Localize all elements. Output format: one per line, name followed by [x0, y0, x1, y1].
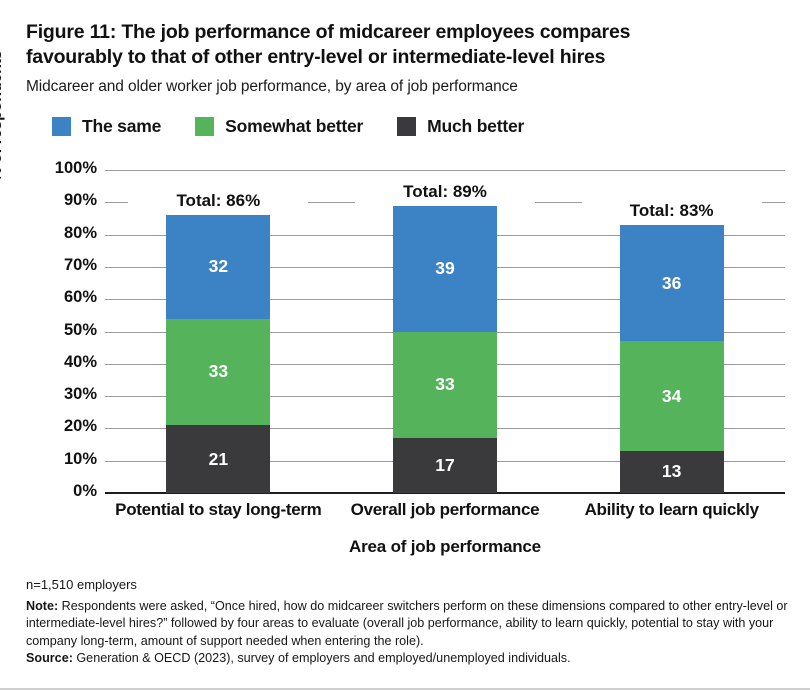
source-label: Source: [26, 651, 73, 665]
legend-item[interactable]: Much better [397, 116, 524, 137]
bar-group[interactable]: 323321Total: 86% [166, 215, 270, 493]
bar-segment-value-label: 36 [662, 273, 681, 294]
y-axis-tick-label: 10% [43, 450, 97, 469]
bar-segment-value-label: 34 [662, 386, 681, 407]
chart-legend: The sameSomewhat betterMuch better [52, 113, 524, 139]
y-axis-tick-label: 40% [43, 353, 97, 372]
bar-segment-value-label: 39 [435, 258, 454, 279]
x-axis-tick-label: Ability to learn quickly [532, 500, 810, 520]
bar-segment[interactable]: 21 [166, 425, 270, 493]
legend-swatch-somewhat-better-icon [195, 117, 214, 136]
source-paragraph: Source: Generation & OECD (2023), survey… [26, 650, 798, 668]
y-axis-tick-label: 90% [43, 191, 97, 210]
bar-segment[interactable]: 17 [393, 438, 497, 493]
y-axis-tick-label: 70% [43, 256, 97, 275]
note-paragraph: Note: Respondents were asked, “Once hire… [26, 598, 798, 651]
bar-total-label: Total: 83% [582, 200, 762, 223]
bar-segment[interactable]: 36 [620, 225, 724, 341]
legend-item[interactable]: Somewhat better [195, 116, 363, 137]
legend-item-label: The same [82, 116, 161, 137]
y-axis-tick-label: 20% [43, 417, 97, 436]
y-axis-tick-label: 30% [43, 385, 97, 404]
y-axis-tick-label: 80% [43, 224, 97, 243]
bar-segment[interactable]: 34 [620, 341, 724, 451]
y-axis-tick-label: 0% [43, 482, 97, 501]
legend-item-label: Somewhat better [225, 116, 363, 137]
gridline [105, 170, 785, 171]
figure-title: Figure 11: The job performance of midcar… [26, 20, 726, 70]
figure-subtitle: Midcareer and older worker job performan… [26, 78, 766, 96]
bar-segment-value-label: 33 [209, 361, 228, 382]
y-axis-tick-label: 100% [43, 159, 97, 178]
plot-area: 323321Total: 86%393317Total: 89%363413To… [105, 170, 785, 493]
bar-segment[interactable]: 13 [620, 451, 724, 493]
bar-segment-value-label: 33 [435, 374, 454, 395]
figure-container: Figure 11: The job performance of midcar… [0, 0, 810, 690]
bar-total-label: Total: 89% [355, 181, 535, 204]
bar-total-label: Total: 86% [128, 190, 308, 213]
note-label: Note: [26, 599, 58, 613]
bar-segment[interactable]: 33 [393, 332, 497, 439]
source-body: Generation & OECD (2023), survey of empl… [73, 651, 571, 665]
bar-group[interactable]: 393317Total: 89% [393, 206, 497, 493]
legend-swatch-the-same-icon [52, 117, 71, 136]
bar-group[interactable]: 363413Total: 83% [620, 225, 724, 493]
legend-item-label: Much better [427, 116, 524, 137]
note-body: Respondents were asked, “Once hired, how… [26, 599, 788, 648]
bar-segment[interactable]: 33 [166, 319, 270, 426]
bar-segment-value-label: 13 [662, 461, 681, 482]
bar-segment-value-label: 17 [435, 455, 454, 476]
sample-size-note: n=1,510 employers [26, 576, 798, 594]
y-axis-tick-label: 50% [43, 321, 97, 340]
legend-swatch-much-better-icon [397, 117, 416, 136]
bar-segment-value-label: 32 [209, 256, 228, 277]
figure-footnotes: n=1,510 employers Note: Respondents were… [26, 576, 798, 668]
bar-segment-value-label: 21 [209, 449, 228, 470]
bar-segment[interactable]: 39 [393, 206, 497, 332]
legend-item[interactable]: The same [52, 116, 161, 137]
x-axis-title: Area of job performance [105, 537, 785, 557]
y-axis-title: % of respondents [0, 26, 6, 206]
bar-segment[interactable]: 32 [166, 215, 270, 318]
y-axis-tick-label: 60% [43, 288, 97, 307]
